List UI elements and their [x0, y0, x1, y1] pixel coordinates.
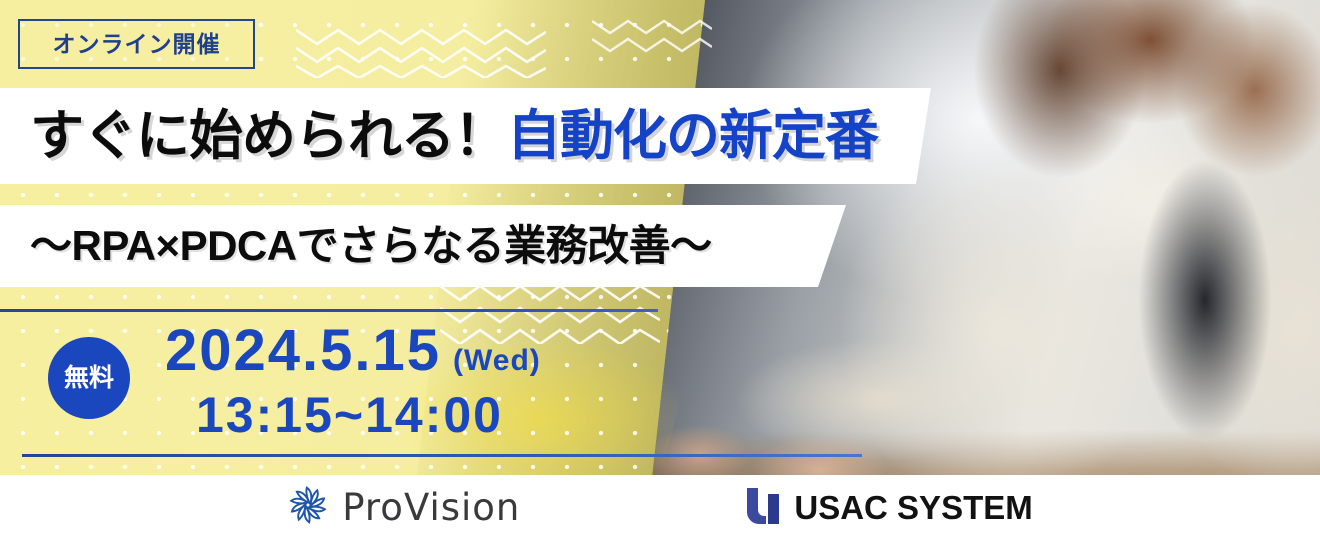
zigzag-decoration-top — [296, 26, 546, 78]
headline-text-blue: 自動化の新定番 — [507, 106, 878, 166]
free-badge: 無料 — [48, 337, 130, 419]
subheadline-text: ～RPA×PDCAでさらなる業務改善～ — [30, 214, 712, 278]
free-badge-label: 無料 — [64, 366, 114, 391]
usac-u-icon — [745, 486, 781, 529]
logo-usac-system: USAC SYSTEM — [745, 486, 1032, 529]
logo-usac-label: USAC SYSTEM — [794, 491, 1032, 524]
divider-line-top — [0, 309, 658, 312]
event-time: 13:15~14:00 — [196, 390, 503, 440]
logo-provision-label: ProVision — [342, 489, 520, 526]
event-date: 2024.5.15 (Wed) — [165, 322, 541, 380]
pinwheel-icon — [287, 484, 329, 531]
logo-footer: ProVision USAC SYSTEM — [0, 475, 1320, 540]
headline-text-black: すぐに始められる！ — [30, 106, 507, 166]
zigzag-decoration-top-right — [592, 18, 712, 56]
headline: すぐに始められる！自動化の新定番 — [30, 98, 878, 174]
event-date-value: 2024.5.15 — [165, 322, 441, 380]
online-event-badge-label: オンライン開催 — [53, 33, 221, 56]
event-date-dayofweek: (Wed) — [453, 346, 541, 376]
divider-line-bottom — [22, 454, 862, 457]
online-event-badge: オンライン開催 — [18, 19, 255, 69]
logo-provision: ProVision — [287, 484, 520, 531]
webinar-banner: オンライン開催 すぐに始められる！自動化の新定番 ～RPA×PDCAでさらなる業… — [0, 0, 1320, 540]
